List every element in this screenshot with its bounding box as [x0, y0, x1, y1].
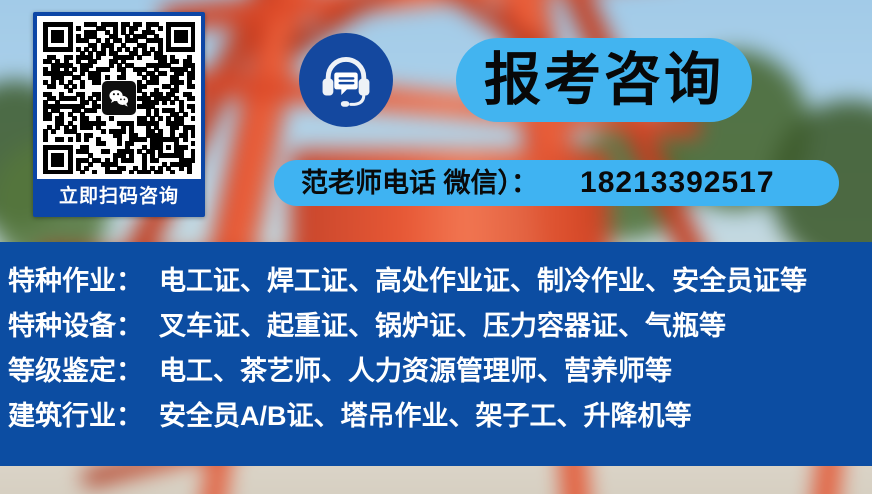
info-row-label: 建筑行业：: [8, 394, 143, 433]
advertisement-poster: 立即扫码咨询 报考咨询 范老师电话 微信）： 18213392517: [0, 0, 872, 494]
info-row: 等级鉴定： 电工、茶艺师、人力资源管理师、营养师等: [8, 349, 872, 394]
contact-phone-number[interactable]: 18213392517: [580, 168, 775, 198]
info-row-value: 安全员A/B证、塔吊作业、架子工、升降机等: [159, 394, 692, 433]
qr-code-image-wrapper: [37, 16, 201, 179]
info-row-value: 叉车证、起重证、锅炉证、压力容器证、气瓶等: [159, 304, 726, 343]
qr-code-card[interactable]: 立即扫码咨询: [33, 12, 205, 217]
headset-badge: [299, 33, 393, 127]
qr-code-caption: 立即扫码咨询: [37, 179, 201, 213]
info-row-value: 电工证、焊工证、高处作业证、制冷作业、安全员证等: [159, 259, 807, 298]
main-title-pill: 报考咨询: [456, 38, 752, 122]
contact-pill[interactable]: 范老师电话 微信）： 18213392517: [274, 160, 839, 206]
certificate-categories-panel: 特种作业： 电工证、焊工证、高处作业证、制冷作业、安全员证等 特种设备： 叉车证…: [0, 242, 872, 466]
info-row-value: 电工、茶艺师、人力资源管理师、营养师等: [159, 349, 672, 388]
info-row: 特种作业： 电工证、焊工证、高处作业证、制冷作业、安全员证等: [8, 259, 872, 304]
info-row-label: 特种设备：: [8, 304, 143, 343]
info-row-label: 等级鉴定：: [8, 349, 143, 388]
info-row: 特种设备： 叉车证、起重证、锅炉证、压力容器证、气瓶等: [8, 304, 872, 349]
info-row-label: 特种作业：: [8, 259, 143, 298]
info-row: 建筑行业： 安全员A/B证、塔吊作业、架子工、升降机等: [8, 394, 872, 439]
contact-label: 范老师电话 微信）：: [301, 170, 538, 197]
headset-chat-icon: [316, 50, 376, 110]
wechat-icon: [102, 81, 136, 115]
page-title: 报考咨询: [484, 52, 724, 109]
